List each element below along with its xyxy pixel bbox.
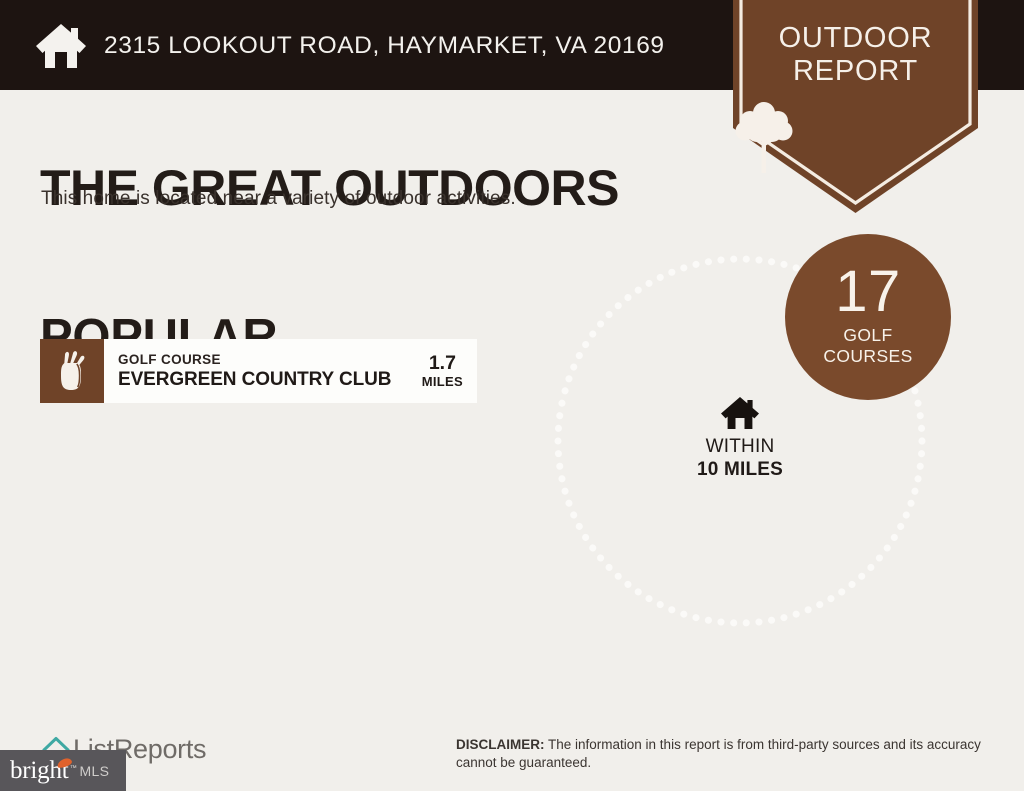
count-label-line-2: COURSES — [823, 346, 912, 367]
golf-courses-count-bubble: 17 GOLF COURSES — [785, 234, 951, 400]
within-label-line-2: 10 MILES — [640, 458, 840, 481]
distance-value: 1.7 — [422, 353, 463, 374]
bright-mls-watermark: bright ™ MLS — [0, 750, 126, 791]
home-icon — [640, 396, 840, 430]
disclaimer-label: DISCLAIMER: — [456, 737, 545, 752]
golf-bag-icon — [40, 339, 104, 403]
list-item-distance: 1.7 MILES — [410, 353, 463, 390]
distance-unit: MILES — [422, 374, 463, 390]
bright-mls-suffix: MLS — [80, 758, 110, 784]
within-label-line-1: WITHIN — [640, 436, 840, 458]
home-icon — [34, 22, 88, 70]
list-item-category: GOLF COURSE — [118, 352, 410, 368]
outdoor-report-page: 2315 LOOKOUT ROAD, HAYMARKET, VA 20169 O… — [0, 0, 1024, 791]
list-item-name: EVERGREEN COUNTRY CLUB — [118, 368, 410, 391]
bright-mls-brand: bright ™ — [10, 758, 69, 784]
property-address: 2315 LOOKOUT ROAD, HAYMARKET, VA 20169 — [104, 32, 665, 60]
outdoor-report-badge: OUTDOOR REPORT — [733, 0, 978, 215]
list-item-body: GOLF COURSE EVERGREEN COUNTRY CLUB 1.7 M… — [104, 339, 477, 403]
radius-center-label: WITHIN 10 MILES — [640, 396, 840, 481]
trademark-symbol: ™ — [70, 756, 77, 782]
count-label-line-1: GOLF — [843, 325, 892, 346]
disclaimer: DISCLAIMER: The information in this repo… — [456, 736, 990, 772]
list-item-names: GOLF COURSE EVERGREEN COUNTRY CLUB — [118, 352, 410, 391]
list-item[interactable]: GOLF COURSE EVERGREEN COUNTRY CLUB 1.7 M… — [40, 339, 477, 403]
tree-icon — [733, 100, 978, 174]
page-subtitle: This home is located near a variety of o… — [41, 188, 516, 210]
count-value: 17 — [835, 264, 901, 320]
